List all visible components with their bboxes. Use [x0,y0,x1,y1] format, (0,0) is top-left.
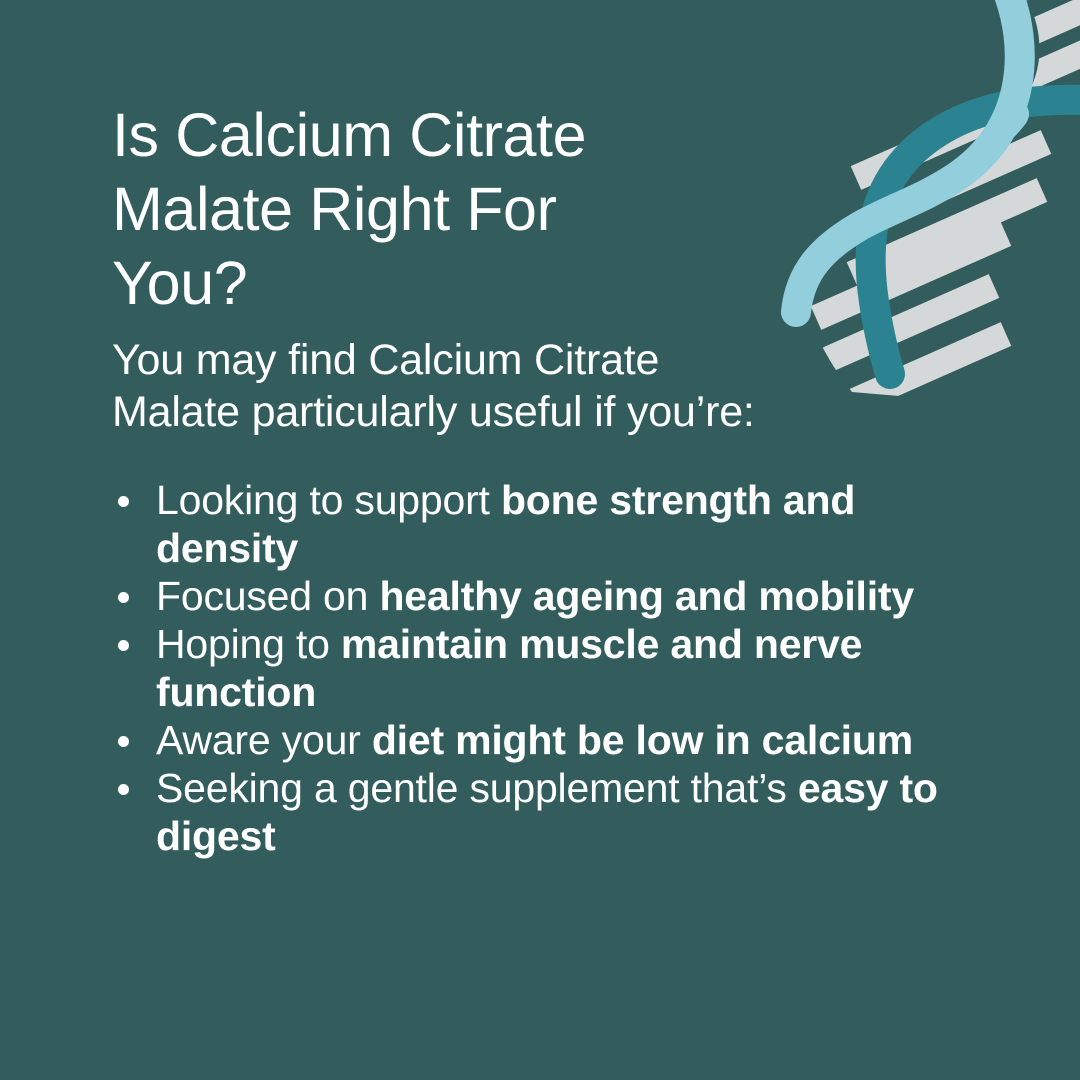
list-item-lead: Looking to support [156,477,501,523]
list-item-lead: Aware your [156,717,372,763]
list-item: Seeking a gentle supplement that’s easy … [112,764,992,860]
bullet-marker [118,640,129,651]
list-item: Aware your diet might be low in calcium [112,716,992,764]
poster-canvas: Is Calcium Citrate Malate Right For You?… [0,0,1080,1080]
list-item: Looking to support bone strength and den… [112,476,992,572]
list-item-lead: Focused on [156,573,379,619]
content-column: Is Calcium Citrate Malate Right For You?… [112,98,992,860]
dna-strand-light-upper [1002,114,1014,128]
subtitle: You may find Calcium Citrate Malate part… [112,334,912,438]
list-item-lead: Hoping to [156,621,341,667]
page-title: Is Calcium Citrate Malate Right For You? [112,98,762,320]
list-item-lead: Seeking a gentle supplement that’s [156,765,798,811]
bullet-marker [118,736,129,747]
bullet-marker [118,592,129,603]
list-item-emphasis: diet might be low in calcium [372,717,913,763]
bullet-marker [118,784,129,795]
benefits-list: Looking to support bone strength and den… [112,476,992,860]
list-item: Focused on healthy ageing and mobility [112,572,992,620]
list-item-emphasis: healthy ageing and mobility [379,573,914,619]
list-item: Hoping to maintain muscle and nerve func… [112,620,992,716]
bullet-marker [118,496,129,507]
